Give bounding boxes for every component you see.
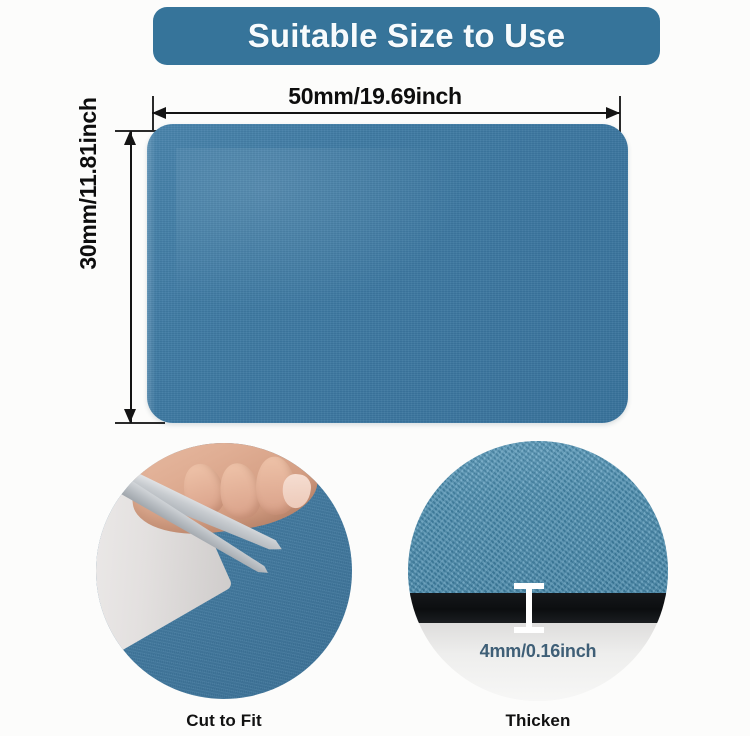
height-dimension-label: 30mm/11.81inch [75,71,102,296]
width-dimension-line [152,112,620,114]
surface-below [408,623,668,701]
infographic-canvas: Suitable Size to Use 50mm/19.69inch 30mm… [0,0,750,736]
height-dimension-line [130,131,132,423]
page-title: Suitable Size to Use [248,17,566,55]
feature-image-thicken: 4mm/0.16inch [408,441,668,701]
mat-surface-texture [408,441,668,597]
arrow-down-icon [124,409,136,423]
feature-image-cut-to-fit [96,443,352,699]
arrow-up-icon [124,131,136,145]
mat-edge-highlight [147,124,156,423]
mat-base-layer [408,593,668,623]
thickness-dimension-label: 4mm/0.16inch [408,641,668,662]
arrow-right-icon [606,107,620,119]
product-mat-image [147,124,628,423]
i-beam-measure-icon [526,583,532,633]
width-dimension-label: 50mm/19.69inch [0,83,750,110]
caption-cut-to-fit: Cut to Fit [96,711,352,731]
arrow-left-icon [152,107,166,119]
header-banner: Suitable Size to Use [153,7,660,65]
caption-thicken: Thicken [408,711,668,731]
